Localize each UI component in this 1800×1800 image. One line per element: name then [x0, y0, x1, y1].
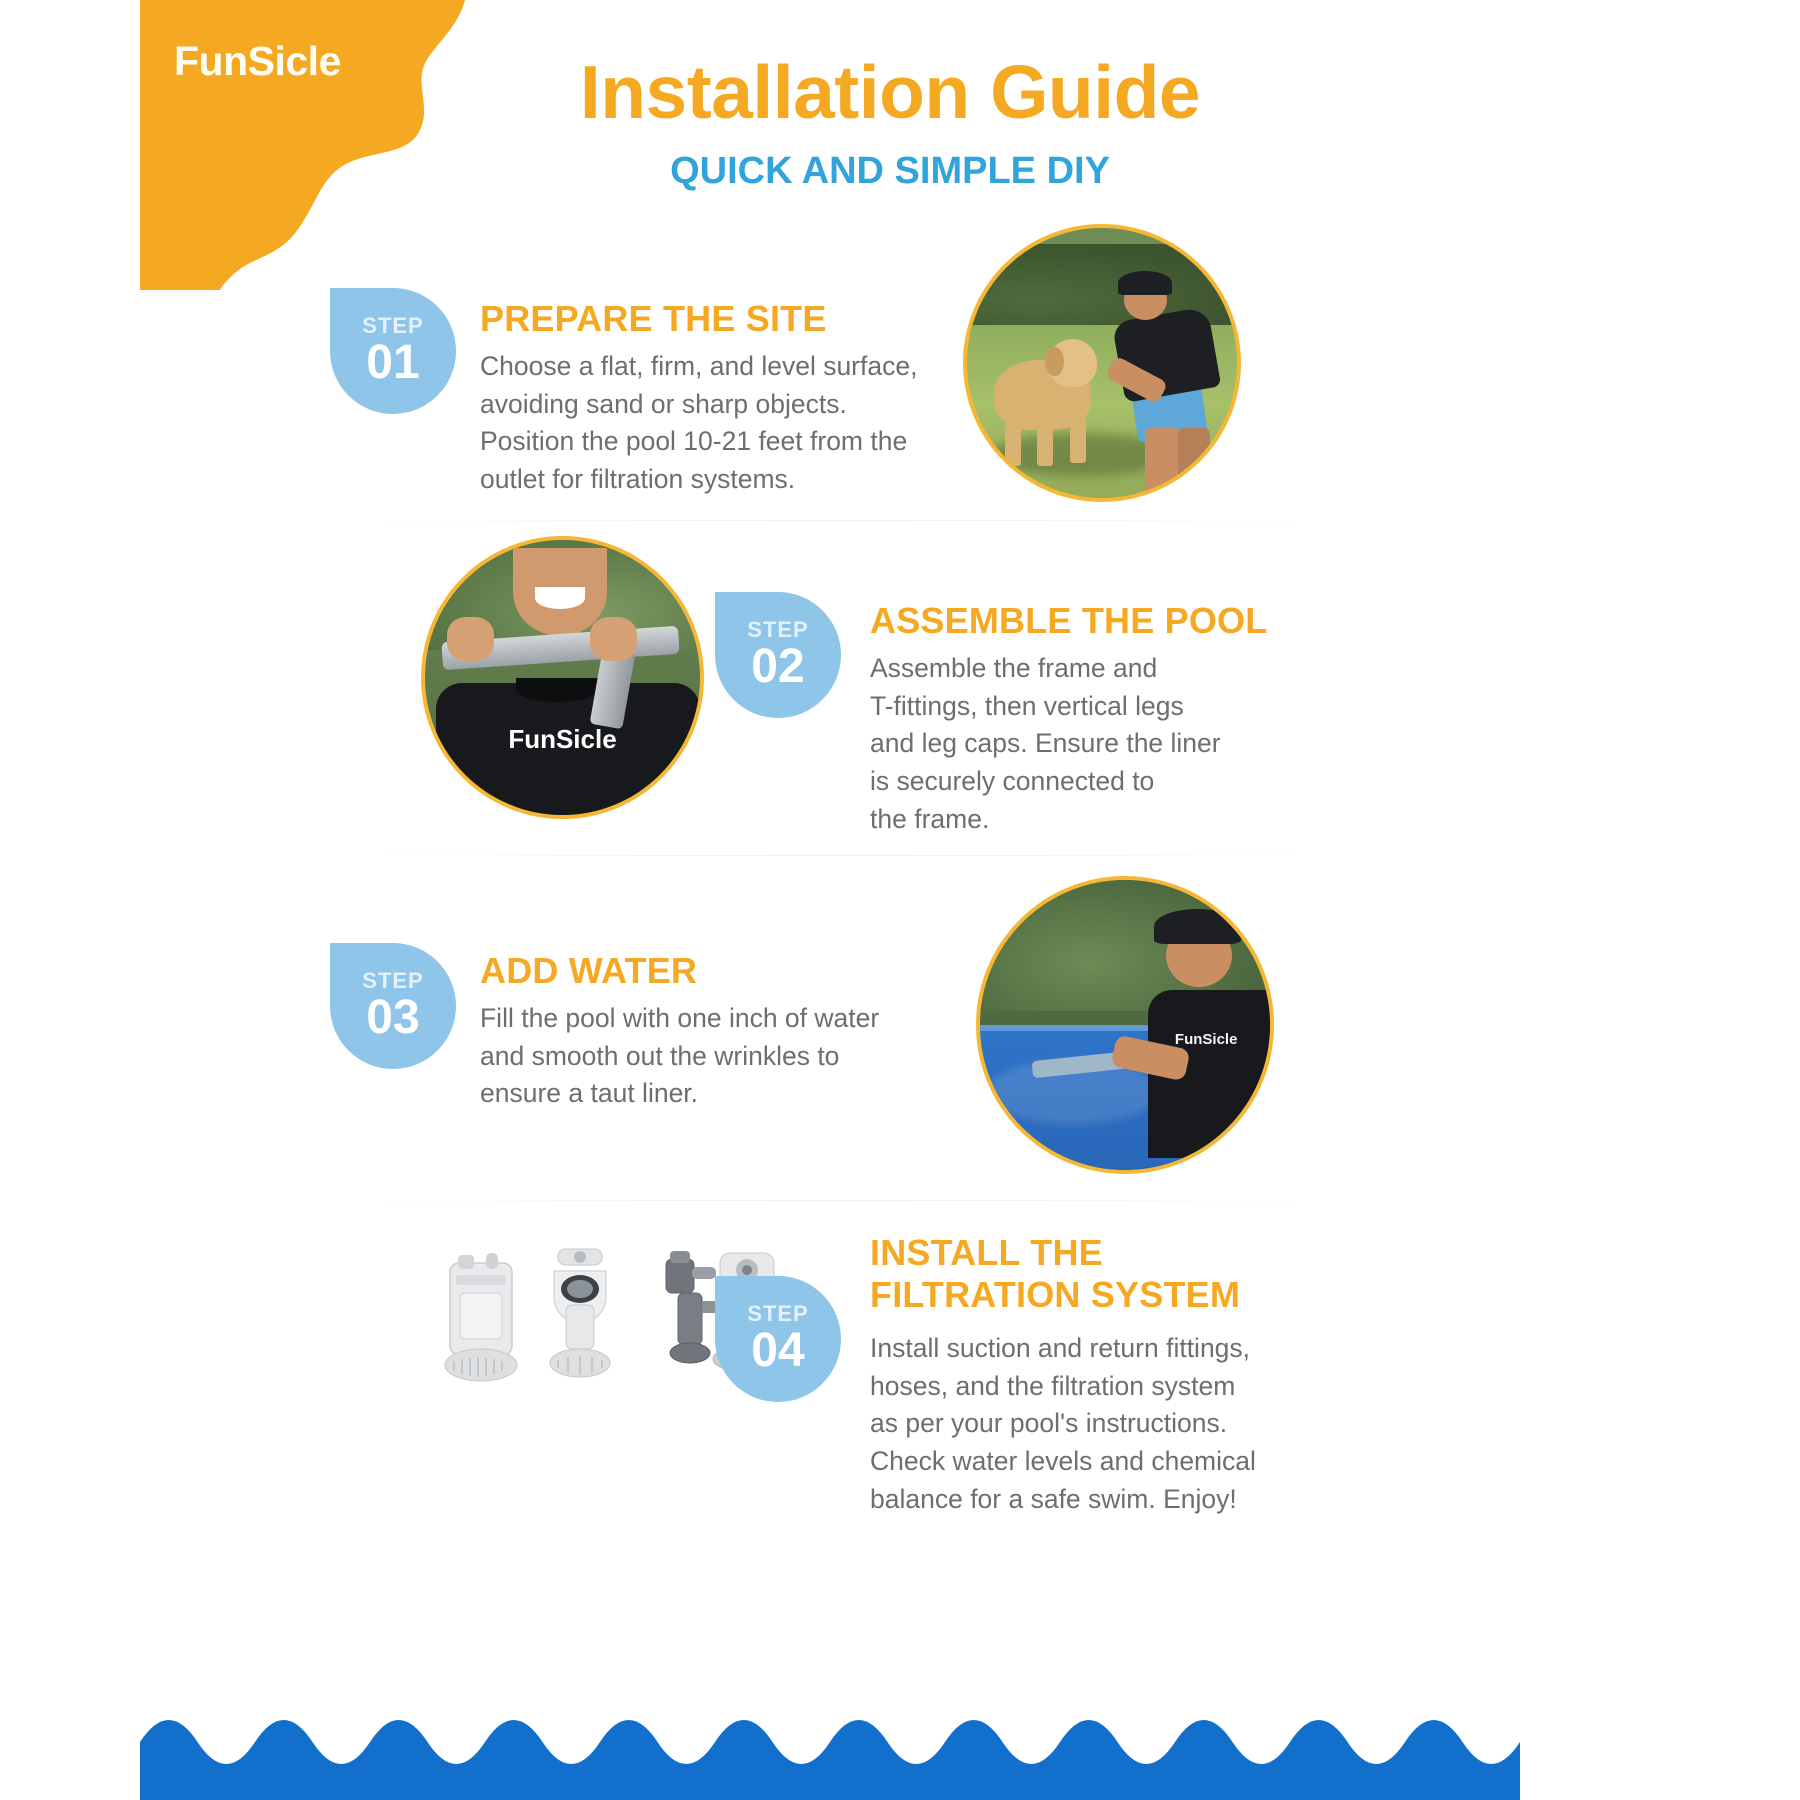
photo2-shirt-logo: FunSicle: [475, 724, 651, 755]
skimmer-pump-icon: [550, 1249, 610, 1377]
infographic-page: FunSicle Installation Guide QUICK AND SI…: [0, 0, 1800, 1800]
photo3-shirt-logo: FunSicle: [1163, 1031, 1250, 1048]
step-body-2: Assemble the frame and T-fittings, then …: [870, 650, 1270, 838]
droplet-icon: [330, 288, 456, 414]
step-photo-2: FunSicle: [425, 540, 700, 815]
step-title-2: ASSEMBLE THE POOL: [870, 600, 1340, 642]
step-badge-2: STEP 02: [715, 592, 841, 718]
step-body-3: Fill the pool with one inch of water and…: [480, 1000, 910, 1113]
cartridge-filter-pump-icon: [445, 1253, 517, 1381]
brand-logo-text: FunSicle: [174, 38, 341, 84]
page-subtitle: QUICK AND SIMPLE DIY: [340, 152, 1440, 190]
section-divider-2: [340, 855, 1340, 856]
section-divider-3: [340, 1200, 1340, 1201]
step-photo-3: FunSicle: [980, 880, 1270, 1170]
brand-logo: FunSicle: [174, 38, 341, 85]
step-badge-4: STEP 04: [715, 1276, 841, 1402]
section-divider-1: [340, 520, 1340, 521]
droplet-icon: [330, 943, 456, 1069]
infographic-canvas: FunSicle Installation Guide QUICK AND SI…: [140, 0, 1520, 1800]
page-title: Installation Guide: [340, 55, 1440, 130]
step-photo-1: [967, 228, 1237, 498]
step-title-4: INSTALL THE FILTRATION SYSTEM: [870, 1232, 1350, 1316]
step-title-1: PREPARE THE SITE: [480, 298, 910, 340]
step-body-4: Install suction and return fittings, hos…: [870, 1330, 1290, 1518]
droplet-icon: [715, 592, 841, 718]
step-body-1: Choose a flat, firm, and level surface, …: [480, 348, 930, 499]
step-badge-3: STEP 03: [330, 943, 456, 1069]
droplet-icon: [715, 1276, 841, 1402]
step-title-3: ADD WATER: [480, 950, 910, 992]
step-badge-1: STEP 01: [330, 288, 456, 414]
footer-wave: [140, 1680, 1520, 1800]
